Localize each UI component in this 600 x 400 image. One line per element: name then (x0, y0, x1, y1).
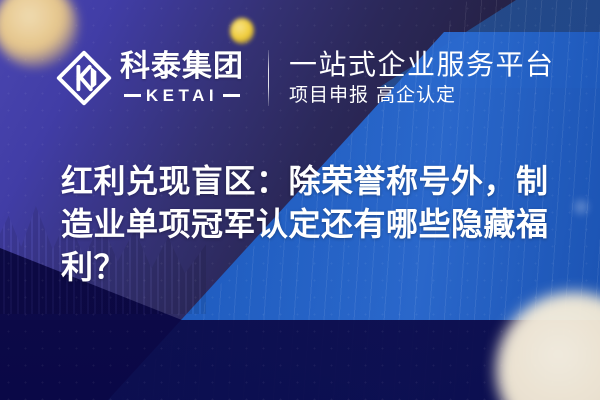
headline-title: 红利兑现盲区：除荣誉称号外，制造业单项冠军认定还有哪些隐藏福利？ (61, 160, 561, 289)
dash-left-icon (124, 94, 141, 97)
promo-banner: 科泰集团 KETAI 一站式企业服务平台 项目申报 高企认定 红利兑现盲区：除荣… (0, 0, 600, 400)
brand-name-en: KETAI (146, 87, 218, 104)
vertical-divider (268, 50, 269, 106)
brand-header: 科泰集团 KETAI 一站式企业服务平台 项目申报 高企认定 (56, 44, 555, 112)
tagline-sub: 项目申报 高企认定 (289, 85, 555, 106)
tagline-main: 一站式企业服务平台 (289, 50, 555, 80)
brand-wordmark: 科泰集团 KETAI (120, 52, 244, 104)
dash-right-icon (223, 94, 240, 97)
tagline-block: 一站式企业服务平台 项目申报 高企认定 (289, 50, 555, 106)
ketai-diamond-kd-logo-icon (56, 50, 112, 106)
brand-name-cn: 科泰集团 (120, 52, 244, 82)
brand-latin-row: KETAI (120, 87, 244, 104)
